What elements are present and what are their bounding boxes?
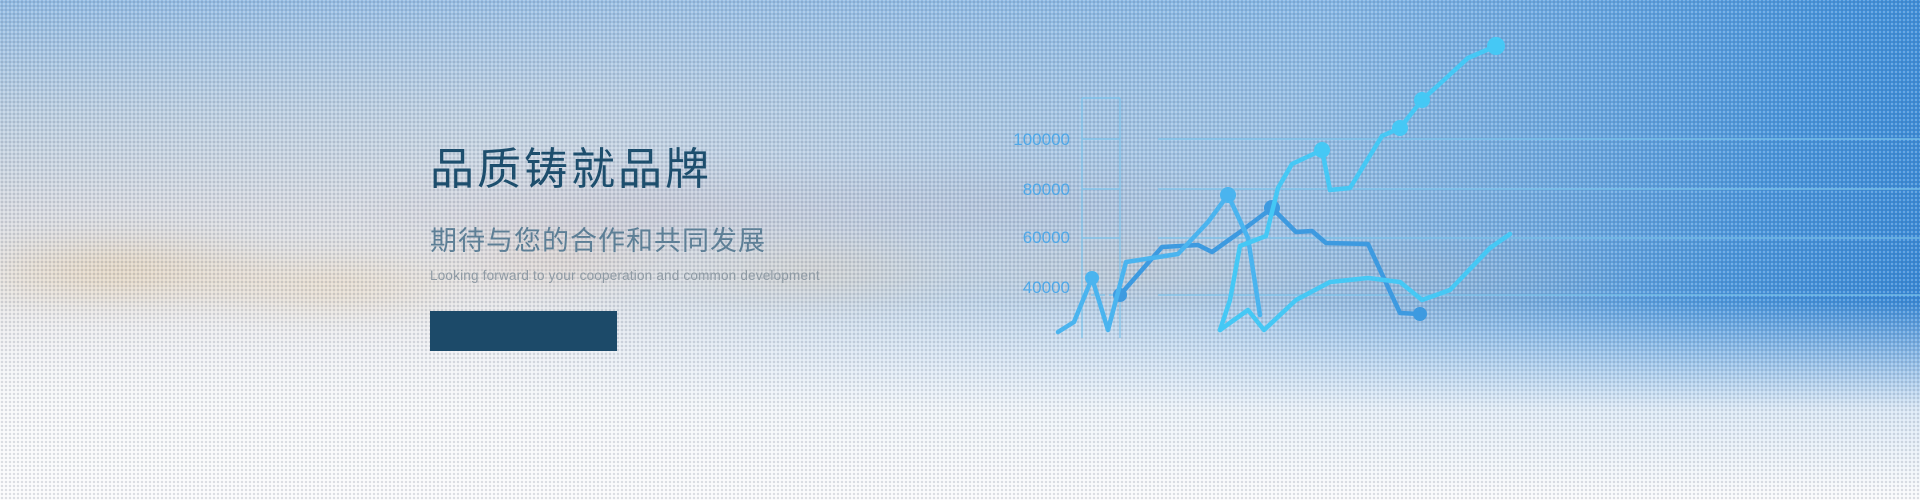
data-point-marker [1220, 187, 1236, 203]
data-point-marker [1314, 142, 1330, 158]
banner-subtitle-english: Looking forward to your cooperation and … [430, 269, 900, 283]
data-point-marker [1392, 120, 1408, 136]
line-chart: 100000 80000 60000 40000 [930, 0, 1920, 500]
chart-series-2 [1058, 187, 1260, 332]
data-point-marker [1413, 307, 1427, 321]
y-tick-label: 60000 [1023, 228, 1070, 247]
y-tick-label: 40000 [1023, 278, 1070, 297]
data-point-marker [1487, 37, 1505, 55]
chart-gridlines [1082, 139, 1920, 295]
banner-subtitle-chinese: 期待与您的合作和共同发展 [430, 228, 900, 255]
chart-svg: 100000 80000 60000 40000 [930, 0, 1920, 500]
copy-block: 品质铸就品牌 期待与您的合作和共同发展 Looking forward to y… [430, 148, 900, 351]
chart-y-axis-labels: 100000 80000 60000 40000 [1013, 130, 1070, 297]
y-tick-label: 100000 [1013, 130, 1070, 149]
data-point-marker [1414, 92, 1430, 108]
promo-banner: 品质铸就品牌 期待与您的合作和共同发展 Looking forward to y… [0, 0, 1920, 500]
data-point-marker [1085, 271, 1099, 285]
y-tick-label: 80000 [1023, 180, 1070, 199]
call-to-action-button[interactable] [430, 311, 617, 351]
banner-title: 品质铸就品牌 [430, 148, 900, 192]
chart-series-3 [1220, 37, 1505, 330]
chart-series-4 [1220, 234, 1510, 330]
